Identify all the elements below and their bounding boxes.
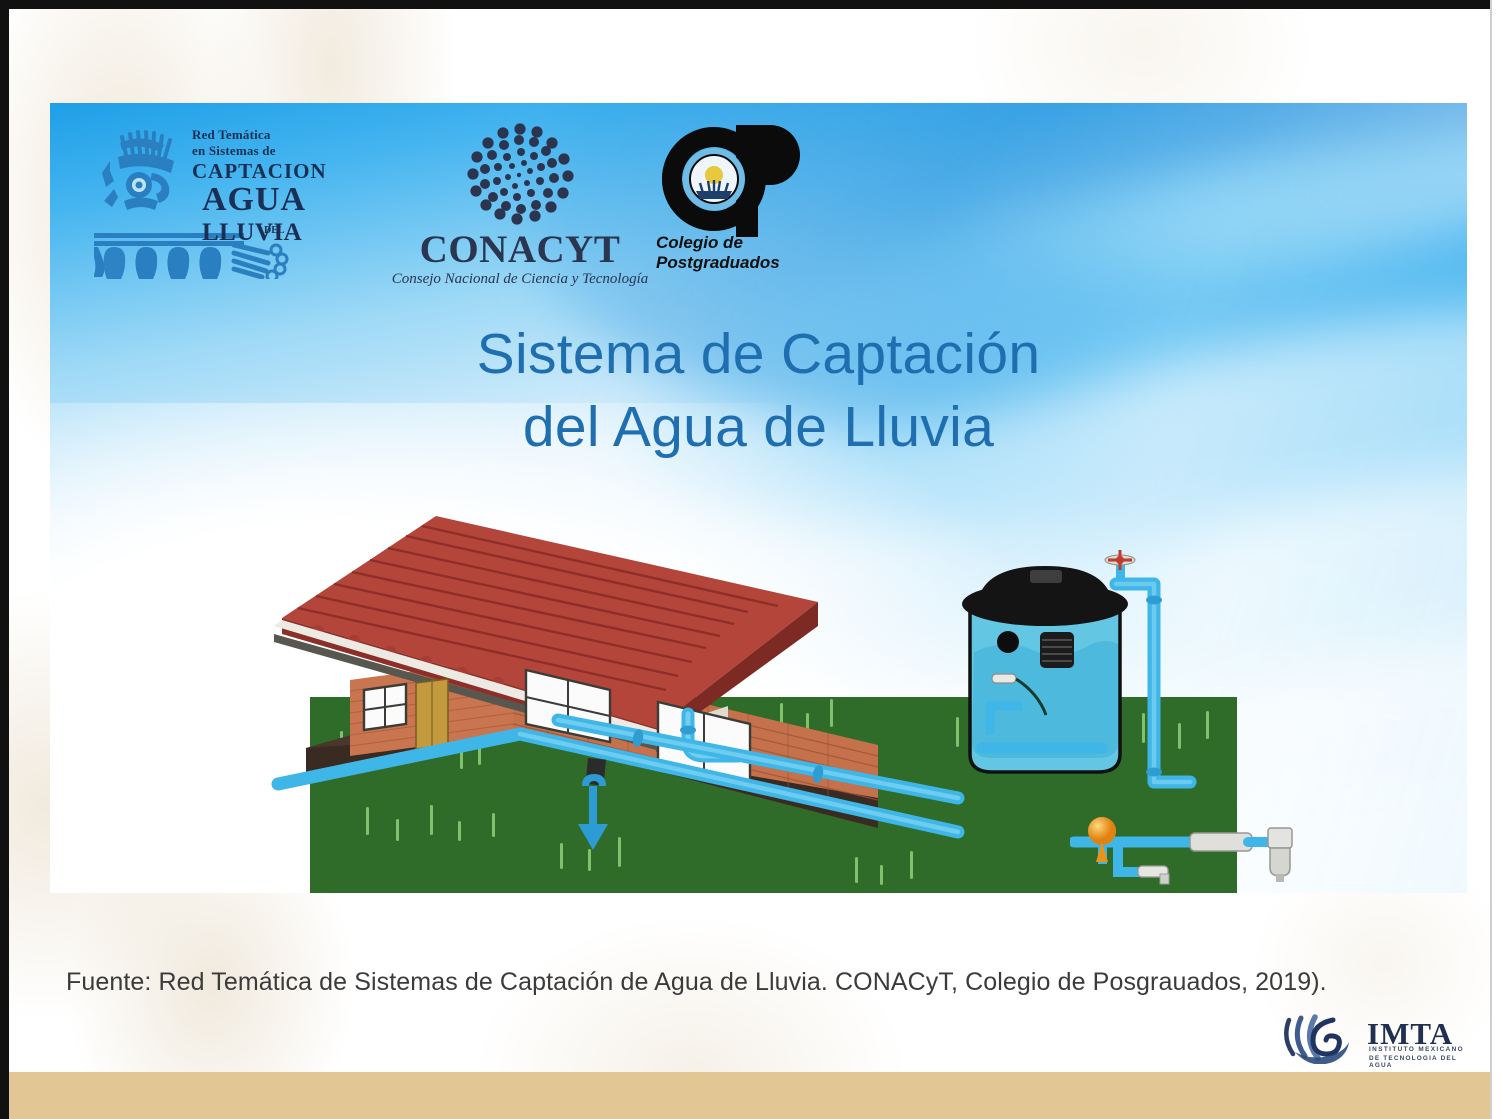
logo-row: Red Temática en Sistemas de CAPTACION AG…	[50, 103, 1467, 288]
filter-cartridge	[1190, 833, 1252, 851]
red-tematica-line2: en Sistemas de	[192, 143, 276, 159]
red-tematica-connector: DEL	[264, 225, 285, 236]
slide-canvas: Red Temática en Sistemas de CAPTACION AG…	[0, 0, 1502, 1119]
first-flush-diverter-arrow	[578, 774, 608, 850]
source-caption: Fuente: Red Temática de Sistemas de Capt…	[66, 968, 1327, 997]
tank-hatch	[1030, 570, 1062, 583]
imta-wave-icon	[1281, 1014, 1363, 1064]
conacyt-wordmark: CONACYT	[390, 227, 650, 272]
outlet-tap	[1138, 866, 1169, 884]
frame-right-edge	[1492, 0, 1502, 1119]
filtration-train	[1070, 786, 1330, 893]
conacyt-logo: CONACYT Consejo Nacional de Ciencia y Te…	[390, 121, 650, 286]
title-line-1: Sistema de Captación	[50, 318, 1467, 391]
frame-top-edge	[0, 0, 1502, 9]
red-tematica-logo: Red Temática en Sistemas de CAPTACION AG…	[92, 121, 357, 286]
imta-subtitle-line1: INSTITUTO MEXICANO	[1369, 1046, 1464, 1053]
bottom-accent-band	[9, 1072, 1490, 1119]
conacyt-subtitle: Consejo Nacional de Ciencia y Tecnología	[390, 271, 650, 288]
tank-screen-port	[1040, 632, 1074, 668]
red-tematica-line5: LLUVIA	[202, 219, 302, 247]
red-tematica-line4: AGUA	[202, 181, 306, 219]
colegio-postgraduados-logo: Colegio de Postgraduados	[648, 121, 810, 289]
tank-inlet-hole	[997, 631, 1019, 653]
imta-subtitle-line2: DE TECNOLOGIA DEL AGUA	[1369, 1055, 1467, 1069]
aztec-glyph-icon	[92, 127, 197, 247]
colpos-line1: Colegio de	[656, 233, 806, 253]
colpos-line2: Postgraduados	[656, 253, 811, 273]
rainwater-system-illustration	[258, 498, 1198, 893]
slide-content-panel: Red Temática en Sistemas de CAPTACION AG…	[50, 103, 1467, 893]
gate-valve	[1088, 817, 1116, 864]
cp-monogram-icon	[652, 121, 804, 239]
imta-logo: IMTA INSTITUTO MEXICANO DE TECNOLOGIA DE…	[1281, 1014, 1467, 1066]
filter-housing	[1268, 828, 1292, 882]
red-tematica-line1: Red Temática	[192, 127, 271, 143]
conacyt-spiral-icon	[452, 121, 587, 229]
title-line-2: del Agua de Lluvia	[50, 391, 1467, 464]
frame-left-edge	[0, 0, 9, 1119]
page-title: Sistema de Captación del Agua de Lluvia	[50, 318, 1467, 464]
